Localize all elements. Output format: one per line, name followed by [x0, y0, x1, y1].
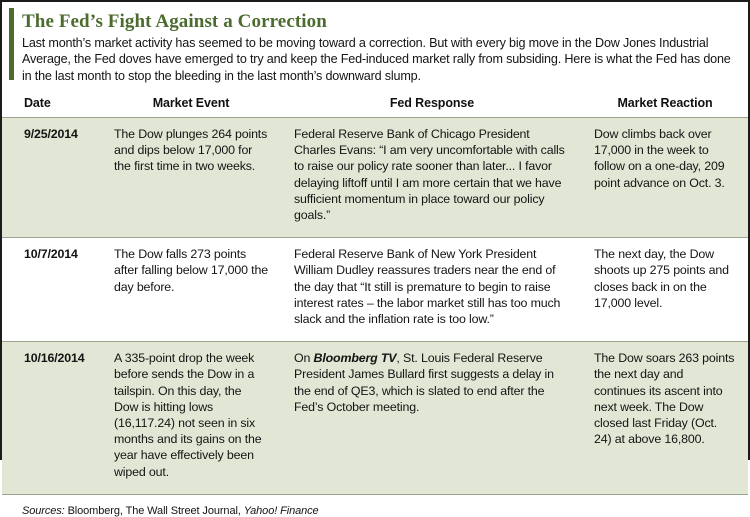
accent-bar — [9, 8, 14, 80]
column-header-market-reaction: Market Reaction — [582, 94, 748, 118]
table-header: Date Market Event Fed Response Market Re… — [2, 94, 748, 118]
response-text-pre: Federal Reserve Bank of New York Preside… — [294, 247, 560, 326]
cell-market-reaction: Dow climbs back over 17,000 in the week … — [582, 117, 748, 237]
sources-label: Sources: — [22, 505, 65, 517]
column-header-market-event: Market Event — [100, 94, 282, 118]
table-body: 9/25/2014 The Dow plunges 264 points and… — [2, 117, 748, 494]
cell-market-event: The Dow plunges 264 points and dips belo… — [100, 117, 282, 237]
cell-market-reaction: The Dow soars 263 points the next day an… — [582, 342, 748, 495]
page-title: The Fed’s Fight Against a Correction — [22, 11, 732, 33]
cell-fed-response: On Bloomberg TV, St. Louis Federal Reser… — [282, 342, 582, 495]
cell-date: 10/7/2014 — [2, 238, 100, 342]
header-block: The Fed’s Fight Against a Correction Las… — [2, 2, 748, 90]
table-row: 10/7/2014 The Dow falls 273 points after… — [2, 238, 748, 342]
cell-market-event: A 335-point drop the week before sends t… — [100, 342, 282, 495]
fed-actions-table: Date Market Event Fed Response Market Re… — [2, 94, 748, 495]
table-row: 10/16/2014 A 335-point drop the week bef… — [2, 342, 748, 495]
page-subtitle: Last month’s market activity has seemed … — [22, 35, 732, 84]
table-row: 9/25/2014 The Dow plunges 264 points and… — [2, 117, 748, 237]
column-header-fed-response: Fed Response — [282, 94, 582, 118]
cell-fed-response: Federal Reserve Bank of Chicago Presiden… — [282, 117, 582, 237]
column-header-date: Date — [2, 94, 100, 118]
cell-fed-response: Federal Reserve Bank of New York Preside… — [282, 238, 582, 342]
sources-footer: Sources: Bloomberg, The Wall Street Jour… — [2, 495, 748, 517]
table-header-row: Date Market Event Fed Response Market Re… — [2, 94, 748, 118]
sources-plain: Bloomberg, The Wall Street Journal, — [65, 505, 244, 517]
cell-date: 9/25/2014 — [2, 117, 100, 237]
cell-market-event: The Dow falls 273 points after falling b… — [100, 238, 282, 342]
sources-italic: Yahoo! Finance — [244, 505, 319, 517]
response-text-pre: On — [294, 351, 314, 365]
response-emphasis: Bloomberg TV — [314, 351, 397, 365]
response-text-pre: Federal Reserve Bank of Chicago Presiden… — [294, 127, 565, 222]
cell-date: 10/16/2014 — [2, 342, 100, 495]
cell-market-reaction: The next day, the Dow shoots up 275 poin… — [582, 238, 748, 342]
infographic-frame: The Fed’s Fight Against a Correction Las… — [0, 0, 750, 460]
